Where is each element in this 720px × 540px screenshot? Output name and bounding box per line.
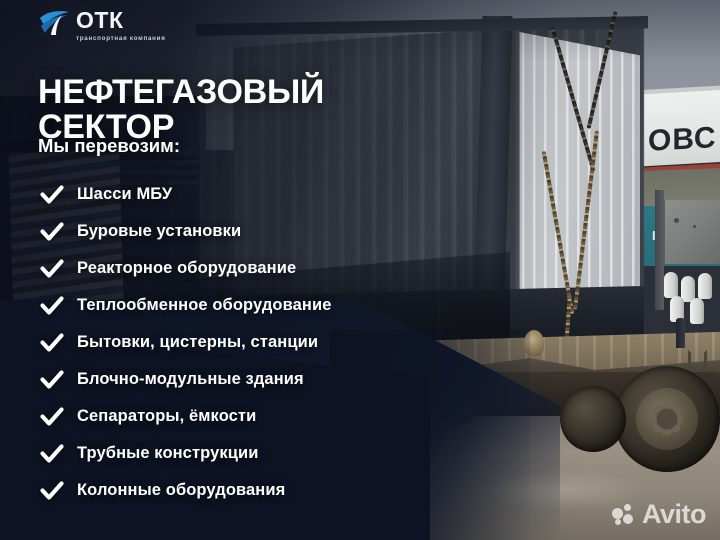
avito-watermark: Avito bbox=[612, 501, 706, 528]
check-icon bbox=[40, 443, 64, 465]
check-icon bbox=[40, 184, 64, 206]
list-item: Теплообменное оборудование bbox=[40, 287, 460, 324]
company-logo: ОТК транспортная компания bbox=[38, 9, 166, 42]
headline-line-1: НЕФТЕГАЗОВЫЙ bbox=[38, 73, 324, 111]
list-item: Буровые установки bbox=[40, 213, 460, 250]
list-item: Блочно-модульные здания bbox=[40, 361, 460, 398]
list-item-label: Теплообменное оборудование bbox=[77, 296, 331, 315]
check-icon bbox=[40, 221, 64, 243]
list-item-label: Сепараторы, ёмкости bbox=[77, 407, 256, 426]
list-item-label: Блочно-модульные здания bbox=[77, 370, 304, 389]
list-item-label: Буровые установки bbox=[77, 222, 241, 241]
list-item-label: Колонные оборудования bbox=[77, 481, 285, 500]
list-item: Колонные оборудования bbox=[40, 472, 460, 509]
avito-wordmark: Avito bbox=[642, 501, 706, 528]
list-item: Бытовки, цистерны, станции bbox=[40, 324, 460, 361]
otk-swoosh-logo-icon bbox=[38, 9, 74, 37]
check-icon bbox=[40, 406, 64, 428]
company-tagline: транспортная компания bbox=[76, 35, 166, 42]
check-icon bbox=[40, 258, 64, 280]
list-item: Сепараторы, ёмкости bbox=[40, 398, 460, 435]
logo-text-block: ОТК транспортная компания bbox=[76, 9, 166, 42]
company-name: ОТК bbox=[76, 9, 166, 32]
list-item-label: Шасси МБУ bbox=[77, 185, 172, 204]
list-item-label: Трубные конструкции bbox=[77, 444, 258, 463]
overlay-content: ОТК транспортная компания НЕФТЕГАЗОВЫЙ С… bbox=[0, 0, 720, 540]
check-icon bbox=[40, 369, 64, 391]
list-item: Реакторное оборудование bbox=[40, 250, 460, 287]
check-icon bbox=[40, 295, 64, 317]
list-item-label: Реакторное оборудование bbox=[77, 259, 296, 278]
list-item: Шасси МБУ bbox=[40, 176, 460, 213]
check-icon bbox=[40, 480, 64, 502]
avito-dots-icon bbox=[612, 504, 638, 526]
check-icon bbox=[40, 332, 64, 354]
advertisement-banner: ОВС НЦИИ bbox=[0, 0, 720, 540]
list-item-label: Бытовки, цистерны, станции bbox=[77, 333, 318, 352]
list-item: Трубные конструкции bbox=[40, 435, 460, 472]
subheading: Мы перевозим: bbox=[38, 135, 180, 157]
services-list: Шасси МБУ Буровые установки Реакторное о… bbox=[40, 176, 460, 509]
